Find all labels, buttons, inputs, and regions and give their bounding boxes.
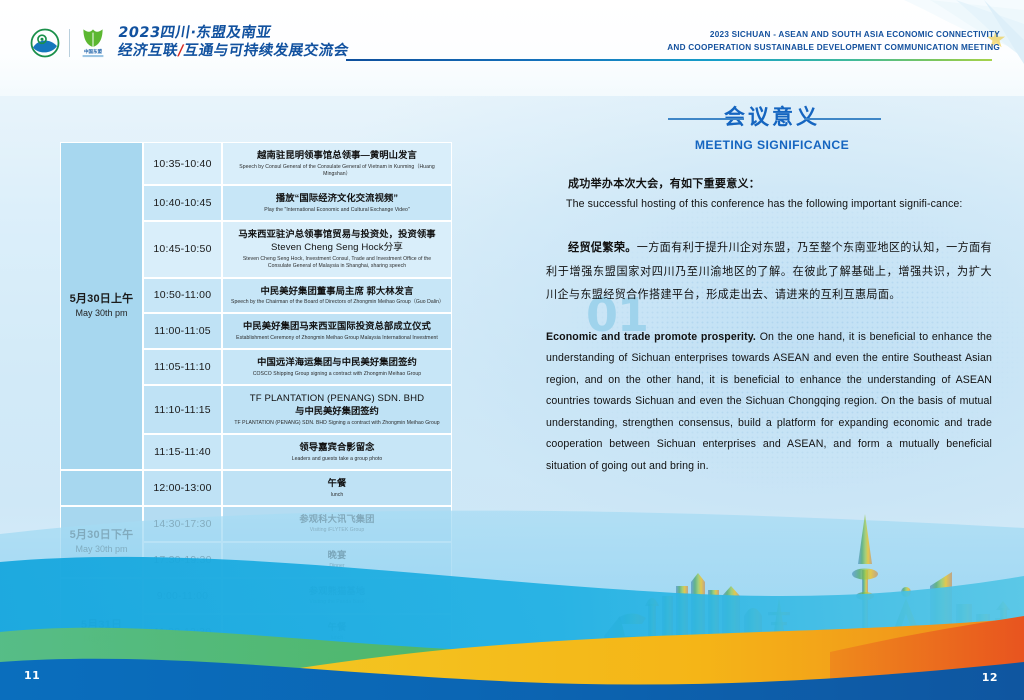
event-title-en: Establishment Ceremony of Zhongmin Meiha… <box>231 335 443 342</box>
event-title-en: Visiting the Panda Base <box>231 599 443 606</box>
brand-line-1: 2023四川·东盟及南亚 <box>117 26 350 41</box>
event-cell: TF PLANTATION (PENANG) SDN. BHD 与中民美好集团签… <box>222 385 452 434</box>
event-cell: 午餐 lunch <box>222 614 452 650</box>
page-header: 中国东盟 2023四川·东盟及南亚 经济互联/互通与可持续发展交流会 2023 … <box>0 0 1024 96</box>
header-gradient-rule <box>346 59 992 61</box>
event-cell: 马来西亚驻沪总领事馆贸易与投资处，投资领事 Steven Cheng Seng … <box>222 221 452 277</box>
title-dash-left <box>668 118 744 120</box>
event-title-en: Visiting iFLYTEK Group <box>231 527 443 534</box>
table-row: 5月30日下午 May 30th pm 14:30-17:30 参观科大讯飞集团… <box>60 506 452 542</box>
event-title-cn: 参观熊猫基地 <box>231 585 443 598</box>
event-title-cn: 晚宴 <box>231 549 443 562</box>
event-cell: 参观科大讯飞集团 Visiting iFLYTEK Group <box>222 506 452 542</box>
event-cell: 中民美好集团马来西亚国际投资总部成立仪式 Establishment Cerem… <box>222 313 452 349</box>
section-title-row: 会议意义 <box>520 96 1024 142</box>
day-label-en: May 30th pm <box>63 307 140 320</box>
svg-text:中国东盟: 中国东盟 <box>84 48 102 55</box>
event-title-cn: 播放“国际经济文化交流视频” <box>231 192 443 205</box>
page-number-right: 12 <box>982 671 998 684</box>
event-title-cn: 越南驻昆明领事馆总领事—黄明山发言 <box>231 149 443 162</box>
paragraph-cn: 经贸促繁荣。一方面有利于提升川企对东盟，乃至整个东南亚地区的认知，一方面有利于增… <box>546 237 992 308</box>
paragraph-en: Economic and trade promote prosperity. O… <box>546 327 992 478</box>
event-title-en: COSCO Shipping Group signing a contract … <box>231 371 443 378</box>
time-cell: 11:05-11:10 <box>143 349 222 385</box>
day-label-cn: 5月30日上午 <box>63 292 140 307</box>
event-title-cn: 马来西亚驻沪总领事馆贸易与投资处，投资领事 <box>231 228 443 241</box>
event-title-cn: 参观科大讯飞集团 <box>231 513 443 526</box>
event-title-en: Dinner <box>231 563 443 570</box>
event-title-en: return <box>231 671 443 678</box>
lead-paragraph-cn: 成功举办本次大会，有如下重要意义： <box>546 174 992 194</box>
event-title-en: Speech by Consul General of the Consulat… <box>231 164 443 179</box>
event-title-cn: 返程 <box>231 657 443 670</box>
event-cell: 越南驻昆明领事馆总领事—黄明山发言 Speech by Consul Gener… <box>222 142 452 185</box>
brochure-page: 中国东盟 2023四川·东盟及南亚 经济互联/互通与可持续发展交流会 2023 … <box>0 0 1024 700</box>
day-label-cn: 5月30日下午 <box>63 528 140 543</box>
time-cell: 17:30-19:30 <box>143 542 222 578</box>
page-number-left: 11 <box>24 669 40 682</box>
day-cell-2: 5月31日 May 31st <box>60 578 143 686</box>
brand-wordmark: 2023四川·东盟及南亚 经济互联/互通与可持续发展交流会 <box>118 26 349 59</box>
event-title-cn: TF PLANTATION (PENANG) SDN. BHD <box>231 392 443 405</box>
event-title-cn: 中民美好集团董事局主席 郭大林发言 <box>231 285 443 298</box>
event-title-cn-2: 与中民美好集团签约 <box>231 405 443 418</box>
header-english-line-2: AND COOPERATION SUSTAINABLE DEVELOPMENT … <box>667 42 1000 55</box>
event-title-en: Steven Cheng Seng Hock, Investment Consu… <box>231 256 443 271</box>
page-title: 会议意义 <box>724 96 820 138</box>
paragraph-cn-lead: 经贸促繁荣。 <box>568 242 637 254</box>
time-cell: 12:00-13:00 <box>143 470 222 506</box>
leaf-emblem-icon: 中国东盟 <box>79 27 107 59</box>
event-cell: 参观熊猫基地 Visiting the Panda Base <box>222 578 452 614</box>
lead-paragraph-en: The successful hosting of this conferenc… <box>546 194 992 215</box>
schedule-table-body: 5月30日上午 May 30th pm 10:35-10:40 越南驻昆明领事馆… <box>60 142 452 686</box>
brand-lockup: 中国东盟 2023四川·东盟及南亚 经济互联/互通与可持续发展交流会 <box>30 26 349 59</box>
header-english-title: 2023 SICHUAN - ASEAN AND SOUTH ASIA ECON… <box>667 29 1000 54</box>
globe-logo-icon <box>30 28 60 58</box>
event-title-en: TF PLANTATION (PENANG) SDN. BHD Signing … <box>231 420 443 427</box>
day-label-en: May 30th pm <box>63 543 140 556</box>
day-label-en: May 31st <box>63 633 140 646</box>
title-dash-right <box>805 118 881 120</box>
paragraph-en-lead: Economic and trade promote prosperity. <box>546 331 756 343</box>
event-cell: 返程 return <box>222 650 452 686</box>
brand-line-2-part-b: 互通与可持续发展交流会 <box>183 43 351 59</box>
header-english-line-1: 2023 SICHUAN - ASEAN AND SOUTH ASIA ECON… <box>667 29 1000 42</box>
event-cell: 中国远洋海运集团与中民美好集团签约 COSCO Shipping Group s… <box>222 349 452 385</box>
event-cell: 晚宴 Dinner <box>222 542 452 578</box>
time-cell: 10:40-10:45 <box>143 185 222 221</box>
time-cell: 11:30-12:30 <box>143 614 222 650</box>
day-cell-spacer <box>60 470 143 506</box>
table-row: 5月30日上午 May 30th pm 10:35-10:40 越南驻昆明领事馆… <box>60 142 452 185</box>
brand-divider <box>69 29 70 57</box>
event-title-en: lunch <box>231 635 443 642</box>
event-title-cn: 领导嘉宾合影留念 <box>231 441 443 454</box>
event-title-cn: 午餐 <box>231 621 443 634</box>
event-title-cn: 中民美好集团马来西亚国际投资总部成立仪式 <box>231 320 443 333</box>
time-cell: 11:15-11:40 <box>143 434 222 470</box>
event-title-cn-2: Steven Cheng Seng Hock分享 <box>231 241 443 254</box>
event-title-cn: 午餐 <box>231 477 443 490</box>
event-cell: 午餐 lunch <box>222 470 452 506</box>
event-cell: 中民美好集团董事局主席 郭大林发言 Speech by the Chairman… <box>222 278 452 314</box>
paragraph-en-rest: On the one hand, it is beneficial to enh… <box>546 331 992 472</box>
time-cell: 10:50-11:00 <box>143 278 222 314</box>
event-title-en: Play the "International Economic and Cul… <box>231 207 443 214</box>
time-cell: 10:45-10:50 <box>143 221 222 277</box>
event-cell: 领导嘉宾合影留念 Leaders and guests take a group… <box>222 434 452 470</box>
event-title-en: lunch <box>231 492 443 499</box>
brand-line-2-part-a: 经济互联 <box>117 43 180 59</box>
time-cell: 9:00-11:00 <box>143 578 222 614</box>
day-label-cn: 5月31日 <box>63 618 140 633</box>
time-cell: 17:00 <box>143 650 222 686</box>
schedule-table: 5月30日上午 May 30th pm 10:35-10:40 越南驻昆明领事馆… <box>60 142 452 686</box>
day-cell-0: 5月30日上午 May 30th pm <box>60 142 143 470</box>
event-cell: 播放“国际经济文化交流视频” Play the "International E… <box>222 185 452 221</box>
meeting-significance-section: 会议意义 MEETING SIGNIFICANCE 成功举办本次大会，有如下重要… <box>520 96 1024 566</box>
event-title-en: Speech by the Chairman of the Board of D… <box>231 299 443 306</box>
time-cell: 10:35-10:40 <box>143 142 222 185</box>
brand-line-2: 经济互联/互通与可持续发展交流会 <box>117 43 350 59</box>
day-cell-1: 5月30日下午 May 30th pm <box>60 506 143 578</box>
time-cell: 11:10-11:15 <box>143 385 222 434</box>
time-cell: 11:00-11:05 <box>143 313 222 349</box>
table-row: 12:00-13:00 午餐 lunch <box>60 470 452 506</box>
event-title-cn: 中国远洋海运集团与中民美好集团签约 <box>231 356 443 369</box>
time-cell: 14:30-17:30 <box>143 506 222 542</box>
significance-body: 成功举办本次大会，有如下重要意义： The successful hosting… <box>546 174 992 477</box>
table-row: 5月31日 May 31st 9:00-11:00 参观熊猫基地 Visitin… <box>60 578 452 614</box>
event-title-en: Leaders and guests take a group photo <box>231 456 443 463</box>
